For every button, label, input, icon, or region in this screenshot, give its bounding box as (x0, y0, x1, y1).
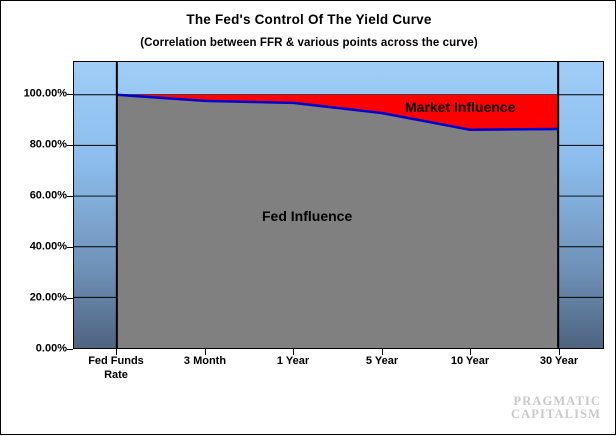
y-tick-label-80: 80.00% (5, 140, 67, 151)
y-tick-label-40: 40.00% (5, 242, 67, 253)
x-tick-label-10-year: 10 Year (426, 355, 514, 369)
y-tick-mark-0 (67, 349, 73, 350)
watermark-line-1: PRAGMATIC (511, 395, 601, 408)
x-tick-label-line1: Fed Funds (88, 355, 144, 367)
y-tick-label-0: 0.00% (5, 344, 67, 355)
y-tick-label-60: 60.00% (5, 191, 67, 202)
plot-inner (74, 62, 603, 348)
y-axis: 100.00% 80.00% 60.00% 40.00% 20.00% 0.00… (1, 1, 67, 436)
x-tick-label-1-year: 1 Year (249, 355, 337, 369)
x-tick-label-5-year: 5 Year (338, 355, 426, 369)
series-layer (74, 62, 603, 348)
watermark-line-2: CAPITALISM (511, 408, 601, 421)
chart-title: The Fed's Control Of The Yield Curve (1, 12, 616, 27)
x-tick-label-30-year: 30 Year (515, 355, 603, 369)
y-tick-label-100: 100.00% (5, 89, 67, 100)
watermark: PRAGMATIC CAPITALISM (511, 395, 601, 421)
x-tick-label-fed-funds-rate: Fed Funds Rate (72, 355, 160, 383)
plot-area (73, 61, 604, 349)
annotation-fed-influence: Fed Influence (262, 208, 352, 224)
y-tick-label-20: 20.00% (5, 293, 67, 304)
annotation-market-influence: Market Influence (405, 99, 515, 115)
chart-subtitle: (Correlation between FFR & various point… (1, 37, 616, 49)
chart-figure: The Fed's Control Of The Yield Curve (Co… (0, 0, 616, 435)
x-tick-label-3-month: 3 Month (161, 355, 249, 369)
x-tick-label-line2: Rate (104, 369, 128, 381)
